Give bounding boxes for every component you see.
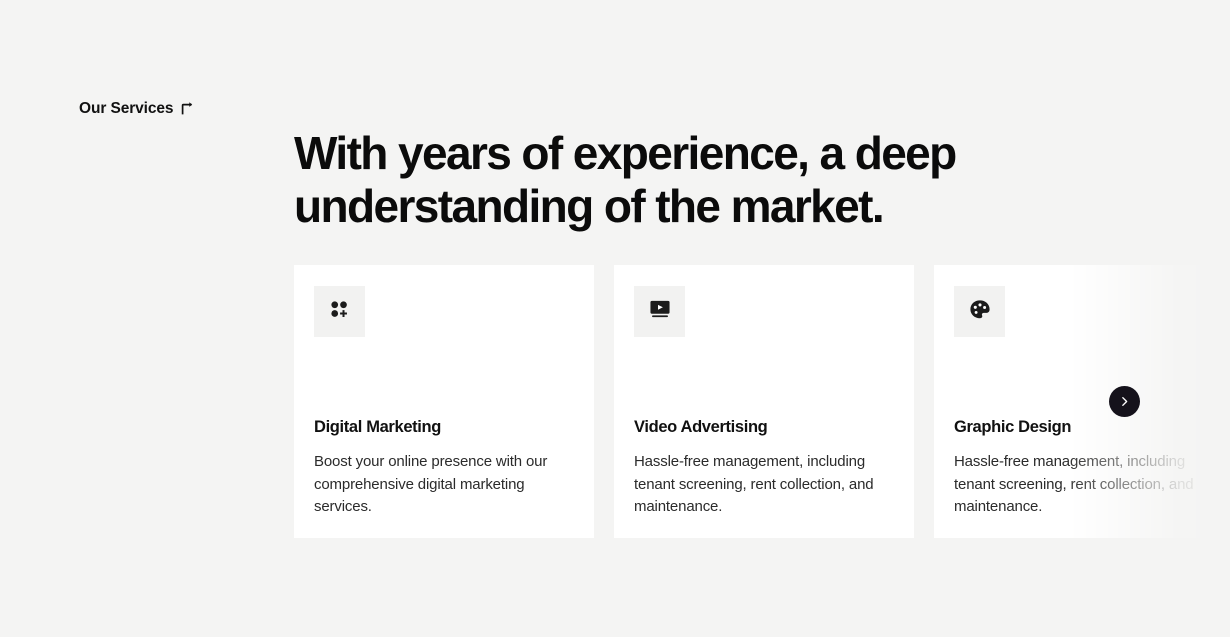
- service-card-description: Hassle-free management, including tenant…: [954, 451, 1202, 519]
- section-heading: With years of experience, a deep underst…: [294, 127, 994, 233]
- service-card-title: Video Advertising: [634, 418, 767, 438]
- service-card[interactable]: Video Advertising Hassle-free management…: [614, 265, 914, 538]
- color-palette-icon: [969, 299, 991, 325]
- chevron-right-icon: [1118, 395, 1131, 408]
- service-card-icon-tile: [634, 286, 685, 337]
- video-monitor-icon: [649, 299, 671, 324]
- apps-add-icon: [329, 299, 350, 325]
- service-card-description: Boost your online presence with our comp…: [314, 451, 562, 519]
- section-eyebrow-label: Our Services: [79, 101, 173, 117]
- service-card-title: Digital Marketing: [314, 418, 441, 438]
- carousel-track[interactable]: Digital Marketing Boost your online pres…: [294, 265, 1230, 538]
- services-carousel: Digital Marketing Boost your online pres…: [294, 265, 1230, 538]
- service-card[interactable]: Digital Marketing Boost your online pres…: [294, 265, 594, 538]
- our-services-section: Our Services With years of experience, a…: [0, 0, 1230, 637]
- carousel-next-button[interactable]: [1109, 386, 1140, 417]
- arrow-up-right-icon: [180, 101, 196, 117]
- service-card[interactable]: Graphic Design Hassle-free management, i…: [934, 265, 1230, 538]
- service-card-description: Hassle-free management, including tenant…: [634, 451, 882, 519]
- service-card-icon-tile: [314, 286, 365, 337]
- service-card-title: Graphic Design: [954, 418, 1071, 438]
- section-eyebrow[interactable]: Our Services: [79, 100, 196, 117]
- service-card-icon-tile: [954, 286, 1005, 337]
